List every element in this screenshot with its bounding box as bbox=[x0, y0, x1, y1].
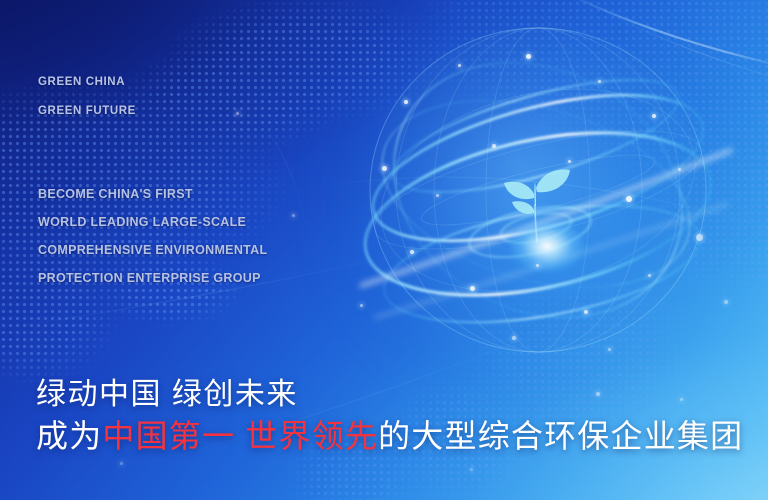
mission-line-2: WORLD LEADING LARGE-SCALE bbox=[38, 208, 267, 236]
headline: 绿动中国 绿创未来 成为中国第一 世界领先的大型综合环保企业集团 bbox=[36, 374, 743, 458]
hero-banner: GREEN CHINA GREEN FUTURE BECOME CHINA'S … bbox=[0, 0, 768, 500]
mission-line-1: BECOME CHINA'S FIRST bbox=[38, 180, 267, 208]
headline-suffix: 的大型综合环保企业集团 bbox=[378, 418, 743, 454]
headline-line-2: 成为中国第一 世界领先的大型综合环保企业集团 bbox=[36, 415, 743, 458]
headline-accent: 中国第一 世界领先 bbox=[102, 418, 378, 454]
tagline-top: GREEN CHINA GREEN FUTURE bbox=[38, 68, 136, 126]
mission-statement: BECOME CHINA'S FIRST WORLD LEADING LARGE… bbox=[38, 180, 267, 292]
tagline-line-2: GREEN FUTURE bbox=[38, 97, 136, 126]
mission-line-3: COMPREHENSIVE ENVIRONMENTAL bbox=[38, 236, 267, 264]
mission-line-4: PROTECTION ENTERPRISE GROUP bbox=[38, 264, 267, 292]
tagline-line-1: GREEN CHINA bbox=[38, 68, 136, 97]
headline-line-1: 绿动中国 绿创未来 bbox=[36, 374, 743, 415]
headline-prefix: 成为 bbox=[36, 418, 102, 454]
